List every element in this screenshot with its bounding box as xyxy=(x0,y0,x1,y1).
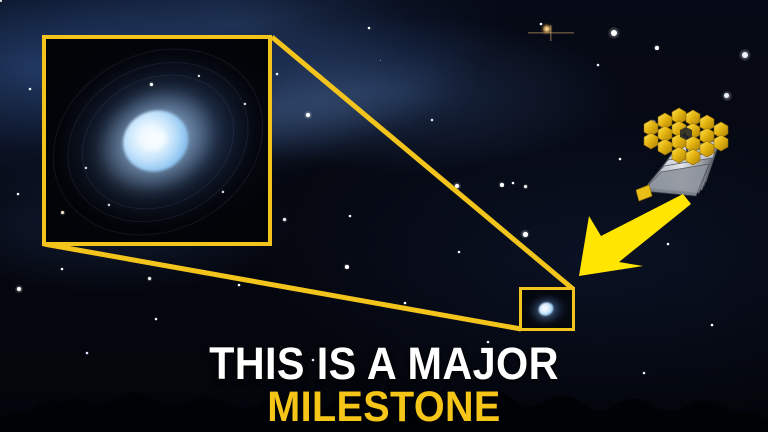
caption-block: THIS IS A MAJOR MILESTONE xyxy=(0,342,768,428)
inset-star xyxy=(222,191,224,193)
caption-line-2: MILESTONE xyxy=(31,387,738,428)
inset-star xyxy=(85,167,87,169)
caption-line-1: THIS IS A MAJOR xyxy=(31,342,738,385)
inset-star xyxy=(61,211,64,214)
inset-star xyxy=(244,103,246,105)
galaxy-zoom-inset[interactable] xyxy=(42,35,272,246)
inset-star xyxy=(198,75,200,77)
pointer-arrow xyxy=(575,190,691,278)
inset-star xyxy=(150,83,153,86)
james-webb-space-telescope[interactable] xyxy=(636,104,748,204)
thumbnail-scene: THIS IS A MAJOR MILESTONE xyxy=(0,0,768,432)
galaxy-source-box[interactable] xyxy=(519,287,575,331)
inset-star xyxy=(108,204,110,206)
